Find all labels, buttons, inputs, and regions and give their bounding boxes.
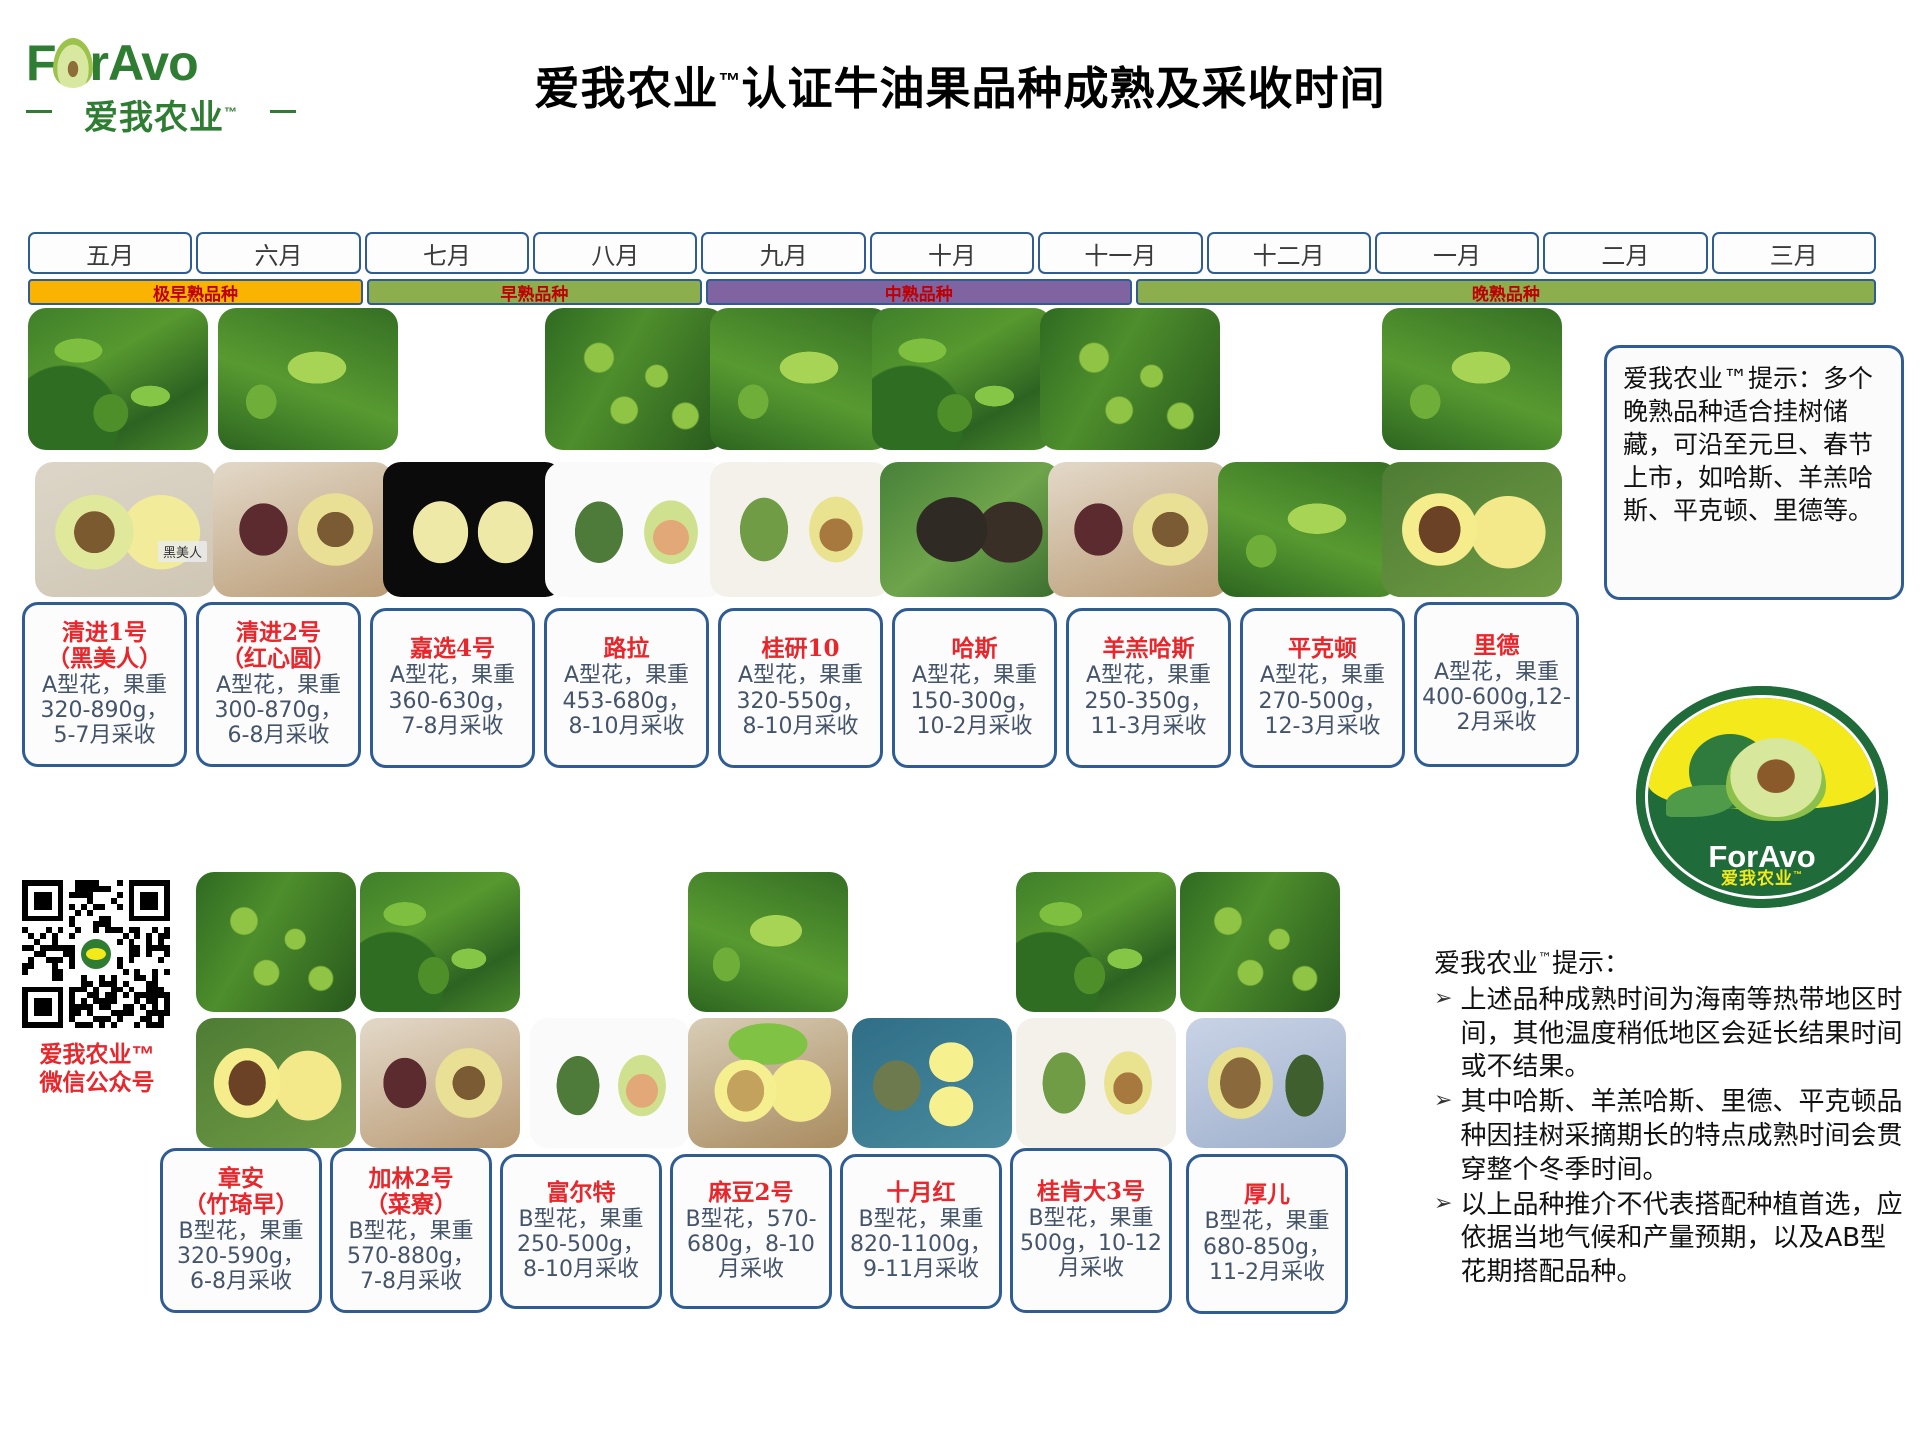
tree-photo-9 xyxy=(1382,308,1562,450)
month-row: 五月六月七月八月九月十月十一月十二月一月二月三月 xyxy=(28,232,1876,274)
fruit-photo-r2-1 xyxy=(196,1018,356,1148)
variety-card-jiaxuan4[interactable]: 嘉选4号A型花，果重360-630g，7-8月采收 xyxy=(370,608,535,768)
tip-box-late-varieties: 爱我农业™提示：多个晚熟品种适合挂树储藏，可沿至元旦、春节上市，如哈斯、羊羔哈斯… xyxy=(1604,345,1904,600)
variety-alias: （竹琦早） xyxy=(184,1192,299,1218)
variety-card-qingjin1[interactable]: 清进1号（黑美人）A型花，果重320-890g，5-7月采收 xyxy=(22,602,187,767)
variety-card-lula[interactable]: 路拉A型花，果重453-680g，8-10月采收 xyxy=(544,608,709,768)
maturity-bar-3[interactable]: 中熟品种 xyxy=(706,279,1132,305)
logo-letter-f: F xyxy=(26,35,56,91)
fruit-photo-r2-7 xyxy=(1186,1018,1346,1148)
month-cell-2[interactable]: 六月 xyxy=(196,232,360,274)
badge-tm-icon: ™ xyxy=(1793,869,1803,879)
variety-alias: （菜寮） xyxy=(365,1192,457,1218)
page-title-part1: 爱我农业 xyxy=(534,63,718,114)
month-timeline: 五月六月七月八月九月十月十一月十二月一月二月三月 极早熟品种早熟品种中熟品种晚熟… xyxy=(28,232,1876,305)
maturity-bar-4[interactable]: 晚熟品种 xyxy=(1136,279,1876,305)
fruit-photo-r2-3 xyxy=(530,1018,690,1148)
bullet-arrow-icon: ➢ xyxy=(1434,1189,1452,1290)
note-item-text: 以上品种推介不代表搭配种植首选，应依据当地气候和产量预期，以及AB型花期搭配品种… xyxy=(1460,1189,1912,1290)
month-cell-11[interactable]: 三月 xyxy=(1712,232,1876,274)
variety-description: A型花，果重270-500g，12-3月采收 xyxy=(1248,663,1397,738)
logo-tm-icon: ™ xyxy=(224,105,238,120)
tree-photo-7 xyxy=(1040,308,1220,450)
variety-alias: （黑美人） xyxy=(47,646,162,672)
tree-photo-1 xyxy=(28,308,208,450)
foravo-seal-badge: ForAvo 爱我农业™ xyxy=(1636,686,1888,908)
fruit-photo-1-label: 黑美人 xyxy=(158,541,207,562)
tree-photo-r2-6 xyxy=(1016,872,1176,1012)
tree-photo-r2-1 xyxy=(196,872,356,1012)
fruit-photo-9 xyxy=(1382,462,1562,597)
variety-card-reed[interactable]: 里德A型花，果重400-600g,12-2月采收 xyxy=(1414,602,1579,767)
variety-name: 厚儿 xyxy=(1244,1182,1290,1208)
tree-photo-r2-2 xyxy=(360,872,520,1012)
variety-card-houer[interactable]: 厚儿B型花，果重680-850g，11-2月采收 xyxy=(1186,1154,1348,1314)
variety-description: B型花，果重680-850g，11-2月采收 xyxy=(1194,1209,1340,1284)
logo-rule-right xyxy=(270,110,296,113)
note-item-2: ➢其中哈斯、羊羔哈斯、里德、平克顿品种因挂树采摘期长的特点成熟时间会贯穿整个冬季… xyxy=(1434,1086,1912,1187)
badge-cn-text: 爱我农业 xyxy=(1721,869,1793,888)
tree-photo-3 xyxy=(383,308,563,450)
variety-name: 加林2号 xyxy=(368,1166,453,1192)
variety-description: A型花，果重320-890g，5-7月采收 xyxy=(30,673,179,748)
maturity-category-row: 极早熟品种早熟品种中熟品种晚熟品种 xyxy=(28,279,1876,305)
tree-photo-8 xyxy=(1212,308,1392,450)
month-cell-8[interactable]: 十二月 xyxy=(1207,232,1371,274)
leaf-icon xyxy=(1666,785,1734,817)
maturity-bar-2[interactable]: 早熟品种 xyxy=(367,279,702,305)
variety-description: B型花，果重500g，10-12月采收 xyxy=(1018,1206,1164,1281)
variety-name: 桂肯大3号 xyxy=(1037,1179,1145,1205)
variety-name: 嘉选4号 xyxy=(410,636,495,662)
fruit-photo-7 xyxy=(1048,462,1228,597)
variety-description: A型花，果重320-550g，8-10月采收 xyxy=(726,663,875,738)
variety-name: 十月红 xyxy=(887,1180,956,1206)
notes-list: ➢上述品种成熟时间为海南等热带地区时间，其他温度稍低地区会延长结果时间或不结果。… xyxy=(1434,984,1912,1290)
avocado-icon xyxy=(53,38,93,88)
variety-card-shiyuehong[interactable]: 十月红B型花，果重820-1100g，9-11月采收 xyxy=(840,1154,1002,1309)
tree-photo-r2-3 xyxy=(524,872,684,1012)
variety-alias: （红心圆） xyxy=(221,646,336,672)
variety-card-jialin2[interactable]: 加林2号（菜寮）B型花，果重570-880g，7-8月采收 xyxy=(330,1148,492,1313)
variety-card-pinkerton[interactable]: 平克顿A型花，果重270-500g，12-3月采收 xyxy=(1240,608,1405,768)
badge-chinese-name: 爱我农业™ xyxy=(1648,864,1876,889)
variety-description: A型花，果重250-350g，11-3月采收 xyxy=(1074,663,1223,738)
tree-photo-2 xyxy=(218,308,398,450)
qr-caption: 爱我农业™ 微信公众号 xyxy=(22,1040,172,1096)
tree-photo-r2-5 xyxy=(852,872,1012,1012)
tree-photo-r2-7 xyxy=(1180,872,1340,1012)
fruit-photo-r2-5 xyxy=(852,1018,1012,1148)
wechat-qr-block: 爱我农业™ 微信公众号 xyxy=(22,880,172,1096)
variety-name: 麻豆2号 xyxy=(708,1180,793,1206)
logo-rule-left xyxy=(26,110,52,113)
variety-name: 桂研10 xyxy=(761,636,839,662)
fruit-photo-1: 黑美人 xyxy=(35,462,215,597)
variety-name: 清进1号 xyxy=(62,620,147,646)
variety-name: 清进2号 xyxy=(236,620,321,646)
tree-photo-6 xyxy=(872,308,1052,450)
badge-ring: ForAvo 爱我农业™ xyxy=(1645,695,1879,899)
notes-tm-icon: ™ xyxy=(1538,950,1552,966)
note-item-3: ➢以上品种推介不代表搭配种植首选，应依据当地气候和产量预期，以及AB型花期搭配品… xyxy=(1434,1189,1912,1290)
bullet-arrow-icon: ➢ xyxy=(1434,984,1452,1085)
month-cell-5[interactable]: 九月 xyxy=(701,232,865,274)
month-cell-9[interactable]: 一月 xyxy=(1375,232,1539,274)
logo-cn-text: 爱我农业 xyxy=(84,99,224,137)
variety-description: B型花，果重320-590g，6-8月采收 xyxy=(168,1219,314,1294)
tree-photo-5 xyxy=(710,308,890,450)
variety-description: A型花，果重150-300g，10-2月采收 xyxy=(900,663,1049,738)
variety-card-guiyan10[interactable]: 桂研10A型花，果重320-550g，8-10月采收 xyxy=(718,608,883,768)
month-cell-4[interactable]: 八月 xyxy=(533,232,697,274)
variety-card-lamb-hass[interactable]: 羊羔哈斯A型花，果重250-350g，11-3月采收 xyxy=(1066,608,1231,768)
qr-caption-line1: 爱我农业™ xyxy=(22,1040,172,1068)
fruit-photo-2 xyxy=(213,462,393,597)
qr-code[interactable] xyxy=(22,880,170,1028)
note-item-text: 上述品种成熟时间为海南等热带地区时间，其他温度稍低地区会延长结果时间或不结果。 xyxy=(1460,984,1912,1085)
title-tm-icon: ™ xyxy=(719,68,742,93)
variety-description: B型花，570-680g，8-10月采收 xyxy=(678,1207,824,1282)
variety-description: B型花，果重820-1100g，9-11月采收 xyxy=(848,1207,994,1282)
variety-name: 章安 xyxy=(218,1166,264,1192)
maturity-bar-1[interactable]: 极早熟品种 xyxy=(28,279,363,305)
variety-card-madou2[interactable]: 麻豆2号B型花，570-680g，8-10月采收 xyxy=(670,1154,832,1309)
variety-card-zhangan[interactable]: 章安（竹琦早）B型花，果重320-590g，6-8月采收 xyxy=(160,1148,322,1313)
fruit-photo-r2-2 xyxy=(360,1018,520,1148)
variety-card-guikenda3[interactable]: 桂肯大3号B型花，果重500g，10-12月采收 xyxy=(1010,1148,1172,1313)
variety-description: A型花，果重360-630g，7-8月采收 xyxy=(378,663,527,738)
variety-description: B型花，果重250-500g，8-10月采收 xyxy=(508,1207,654,1282)
foravo-logo: FrAvo 爱我农业™ xyxy=(26,38,296,148)
fruit-photo-r2-6 xyxy=(1016,1018,1176,1148)
page-title: 爱我农业™认证牛油果品种成熟及采收时间 xyxy=(380,52,1540,117)
note-item-text: 其中哈斯、羊羔哈斯、里德、平克顿品种因挂树采摘期长的特点成熟时间会贯穿整个冬季时… xyxy=(1460,1086,1912,1187)
fruit-photo-4 xyxy=(545,462,725,597)
fruit-photo-r2-4 xyxy=(688,1018,848,1148)
variety-name: 平克顿 xyxy=(1288,636,1357,662)
fruit-photo-8 xyxy=(1218,462,1398,597)
notes-title-part2: 提示： xyxy=(1552,949,1630,979)
infographic-root: FrAvo 爱我农业™ 爱我农业™认证牛油果品种成熟及采收时间 五月六月七月八月… xyxy=(0,0,1920,1440)
logo-chinese-name: 爱我农业™ xyxy=(26,90,296,139)
logo-letters-ravo: rAvo xyxy=(90,35,198,91)
note-item-1: ➢上述品种成熟时间为海南等热带地区时间，其他温度稍低地区会延长结果时间或不结果。 xyxy=(1434,984,1912,1085)
notes-title-part1: 爱我农业 xyxy=(1434,949,1538,979)
qr-center-logo-icon xyxy=(79,937,113,971)
tree-photo-r2-4 xyxy=(688,872,848,1012)
qr-caption-line2: 微信公众号 xyxy=(22,1068,172,1096)
variety-card-qingjin2[interactable]: 清进2号（红心圆）A型花，果重300-870g，6-8月采收 xyxy=(196,602,361,767)
variety-description: A型花，果重400-600g,12-2月采收 xyxy=(1422,660,1571,735)
variety-name: 路拉 xyxy=(604,636,650,662)
fruit-photo-3 xyxy=(383,462,563,597)
month-cell-6[interactable]: 十月 xyxy=(870,232,1034,274)
fruit-photo-5 xyxy=(710,462,890,597)
fruit-photo-6 xyxy=(880,462,1060,597)
month-cell-10[interactable]: 二月 xyxy=(1543,232,1707,274)
bullet-arrow-icon: ➢ xyxy=(1434,1086,1452,1187)
tip-box-text: 爱我农业™提示：多个晚熟品种适合挂树储藏，可沿至元旦、春节上市，如哈斯、羊羔哈斯… xyxy=(1623,364,1873,525)
variety-description: B型花，果重570-880g，7-8月采收 xyxy=(338,1219,484,1294)
page-title-part2: 认证牛油果品种成熟及采收时间 xyxy=(742,63,1386,114)
variety-card-fuerte[interactable]: 富尔特B型花，果重250-500g，8-10月采收 xyxy=(500,1154,662,1309)
notes-block: 爱我农业™提示： ➢上述品种成熟时间为海南等热带地区时间，其他温度稍低地区会延长… xyxy=(1434,948,1912,1291)
variety-description: A型花，果重300-870g，6-8月采收 xyxy=(204,673,353,748)
variety-name: 哈斯 xyxy=(952,636,998,662)
variety-name: 羊羔哈斯 xyxy=(1103,636,1195,662)
variety-card-hass[interactable]: 哈斯A型花，果重150-300g，10-2月采收 xyxy=(892,608,1057,768)
tree-photo-4 xyxy=(545,308,725,450)
notes-title: 爱我农业™提示： xyxy=(1434,948,1912,982)
variety-name: 富尔特 xyxy=(547,1180,616,1206)
logo-wordmark: FrAvo xyxy=(26,38,296,88)
variety-description: A型花，果重453-680g，8-10月采收 xyxy=(552,663,701,738)
variety-name: 里德 xyxy=(1474,633,1520,659)
month-cell-1[interactable]: 五月 xyxy=(28,232,192,274)
month-cell-3[interactable]: 七月 xyxy=(365,232,529,274)
month-cell-7[interactable]: 十一月 xyxy=(1038,232,1202,274)
